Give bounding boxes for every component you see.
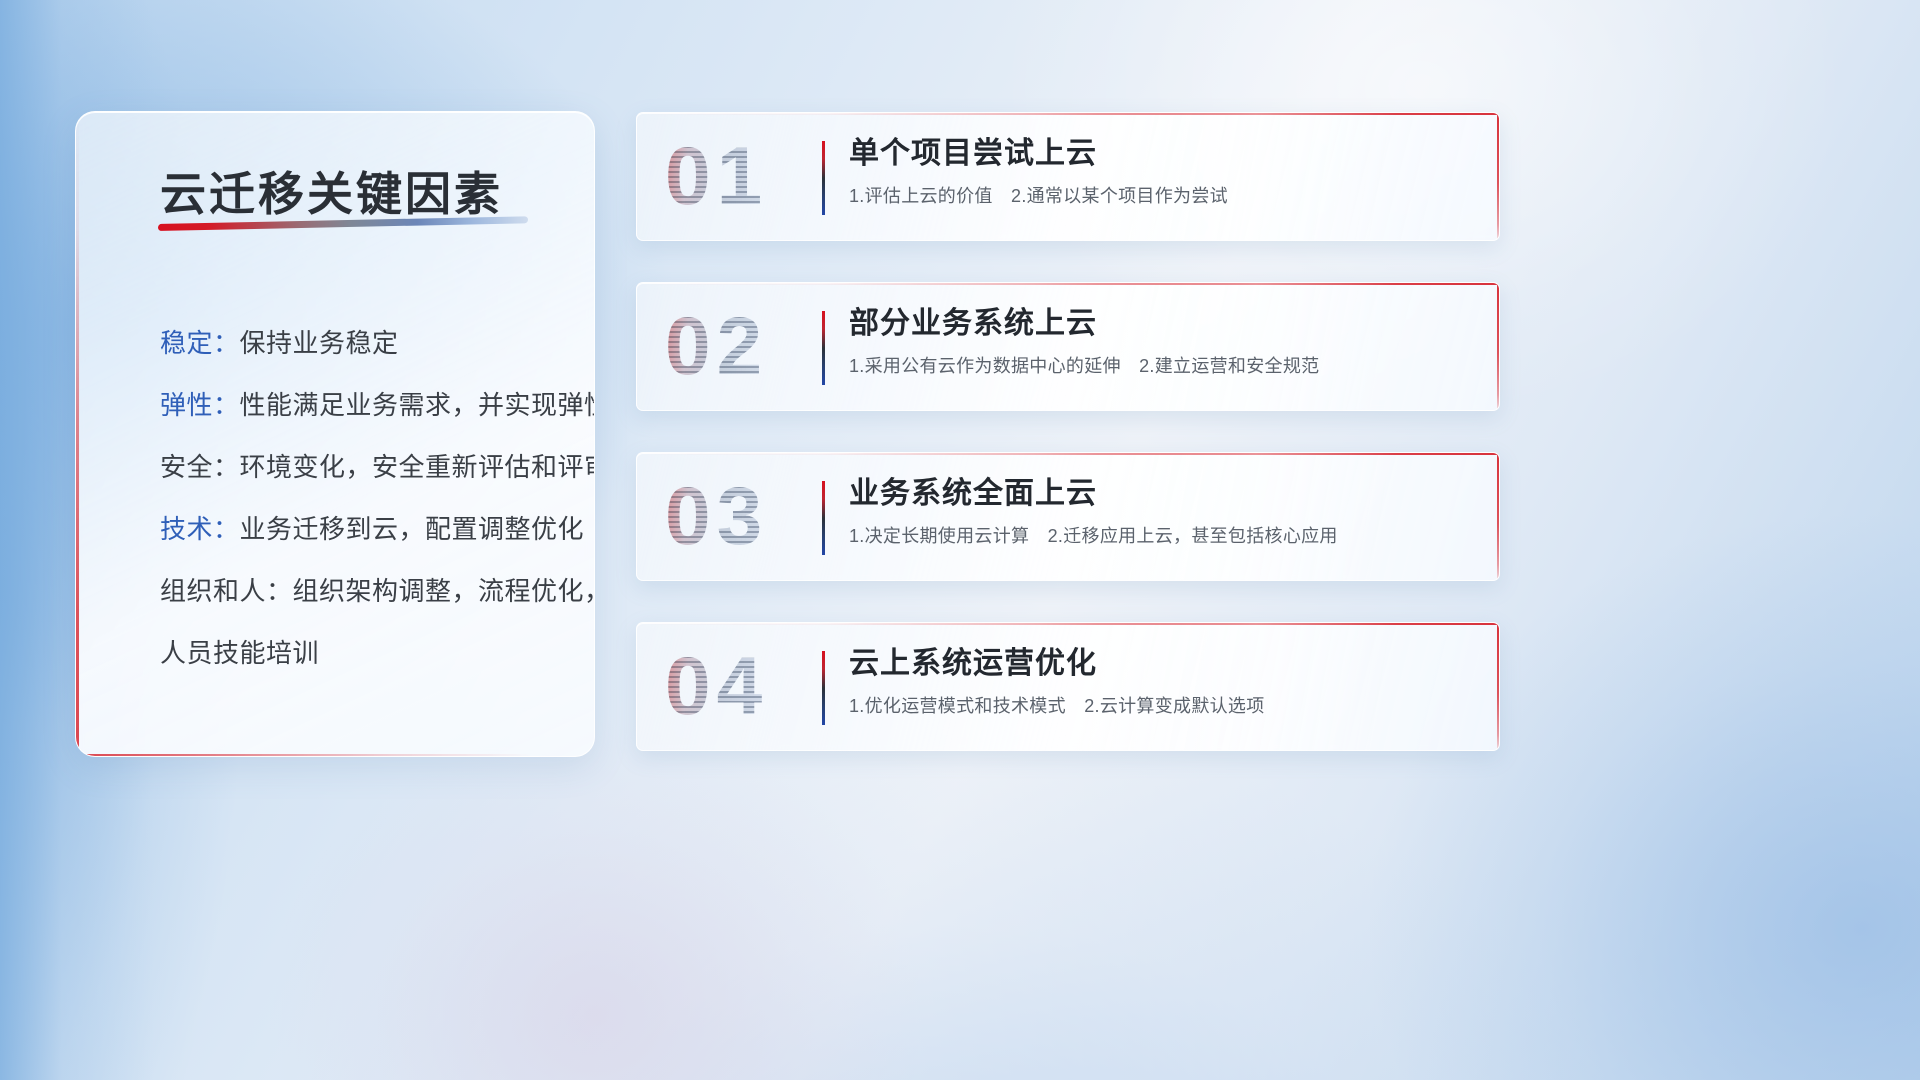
panel-left-accent-line [76, 112, 79, 756]
step-subtitle: 1.评估上云的价值 2.通常以某个项目作为尝试 [849, 185, 1469, 208]
step-title: 云上系统运营优化 [849, 646, 1469, 681]
step-text-block: 部分业务系统上云 1.采用公有云作为数据中心的延伸 2.建立运营和安全规范 [849, 306, 1469, 379]
step-number: 02 [665, 306, 768, 388]
step-number: 04 [665, 646, 768, 728]
list-item-value: 业务迁移到云，配置调整优化 [240, 514, 585, 544]
card-top-accent-line [637, 623, 1499, 625]
step-divider-bar [822, 141, 825, 215]
list-item-label: 弹性： [160, 390, 240, 420]
step-title: 单个项目尝试上云 [849, 136, 1469, 171]
step-text-block: 业务系统全面上云 1.决定长期使用云计算 2.迁移应用上云，甚至包括核心应用 [849, 476, 1469, 549]
step-subtitle: 1.决定长期使用云计算 2.迁移应用上云，甚至包括核心应用 [849, 525, 1469, 548]
list-item-continuation: 人员技能培训 [160, 622, 568, 684]
card-top-accent-line [637, 453, 1499, 455]
list-item-value: 保持业务稳定 [240, 328, 399, 358]
step-divider-bar [822, 481, 825, 555]
list-item-label: 组织和人： [160, 576, 293, 606]
list-item-value: 人员技能培训 [160, 638, 319, 668]
step-subtitle: 1.优化运营模式和技术模式 2.云计算变成默认选项 [849, 695, 1469, 718]
step-title: 部分业务系统上云 [849, 306, 1469, 341]
card-top-accent-line [637, 283, 1499, 285]
list-item: 组织和人：组织架构调整，流程优化， [160, 560, 568, 622]
card-right-accent-line [1497, 283, 1499, 410]
card-right-accent-line [1497, 453, 1499, 580]
list-item-value: 组织架构调整，流程优化， [293, 576, 595, 606]
list-item-label: 稳定： [160, 328, 240, 358]
card-right-accent-line [1497, 623, 1499, 750]
list-item: 弹性：性能满足业务需求，并实现弹性 [160, 374, 568, 436]
key-factors-panel: 云迁移关键因素 稳定：保持业务稳定 弹性：性能满足业务需求，并实现弹性 安全：环… [75, 111, 595, 757]
list-item-value: 性能满足业务需求，并实现弹性 [240, 390, 595, 420]
list-item-value: 环境变化，安全重新评估和评审 [240, 452, 595, 482]
step-number: 01 [665, 136, 768, 218]
list-item: 技术：业务迁移到云，配置调整优化 [160, 498, 568, 560]
page-title: 云迁移关键因素 [160, 158, 503, 224]
card-right-accent-line [1497, 113, 1499, 240]
key-factors-list: 稳定：保持业务稳定 弹性：性能满足业务需求，并实现弹性 安全：环境变化，安全重新… [160, 312, 568, 684]
step-card-02[interactable]: 02 部分业务系统上云 1.采用公有云作为数据中心的延伸 2.建立运营和安全规范 [636, 282, 1500, 411]
card-top-accent-line [637, 113, 1499, 115]
step-divider-bar [822, 311, 825, 385]
migration-steps-list: 01 单个项目尝试上云 1.评估上云的价值 2.通常以某个项目作为尝试 02 部… [636, 112, 1500, 792]
step-card-04[interactable]: 04 云上系统运营优化 1.优化运营模式和技术模式 2.云计算变成默认选项 [636, 622, 1500, 751]
step-text-block: 单个项目尝试上云 1.评估上云的价值 2.通常以某个项目作为尝试 [849, 136, 1469, 209]
step-divider-bar [822, 651, 825, 725]
list-item: 安全：环境变化，安全重新评估和评审 [160, 436, 568, 498]
step-text-block: 云上系统运营优化 1.优化运营模式和技术模式 2.云计算变成默认选项 [849, 646, 1469, 719]
step-subtitle: 1.采用公有云作为数据中心的延伸 2.建立运营和安全规范 [849, 355, 1469, 378]
step-title: 业务系统全面上云 [849, 476, 1469, 511]
list-item: 稳定：保持业务稳定 [160, 312, 568, 374]
panel-bottom-accent-line [76, 754, 594, 756]
step-card-01[interactable]: 01 单个项目尝试上云 1.评估上云的价值 2.通常以某个项目作为尝试 [636, 112, 1500, 241]
list-item-label: 技术： [160, 514, 240, 544]
slide-stage: 云迁移关键因素 稳定：保持业务稳定 弹性：性能满足业务需求，并实现弹性 安全：环… [0, 0, 1920, 1080]
step-number: 03 [665, 476, 768, 558]
list-item-label: 安全： [160, 452, 240, 482]
step-card-03[interactable]: 03 业务系统全面上云 1.决定长期使用云计算 2.迁移应用上云，甚至包括核心应… [636, 452, 1500, 581]
